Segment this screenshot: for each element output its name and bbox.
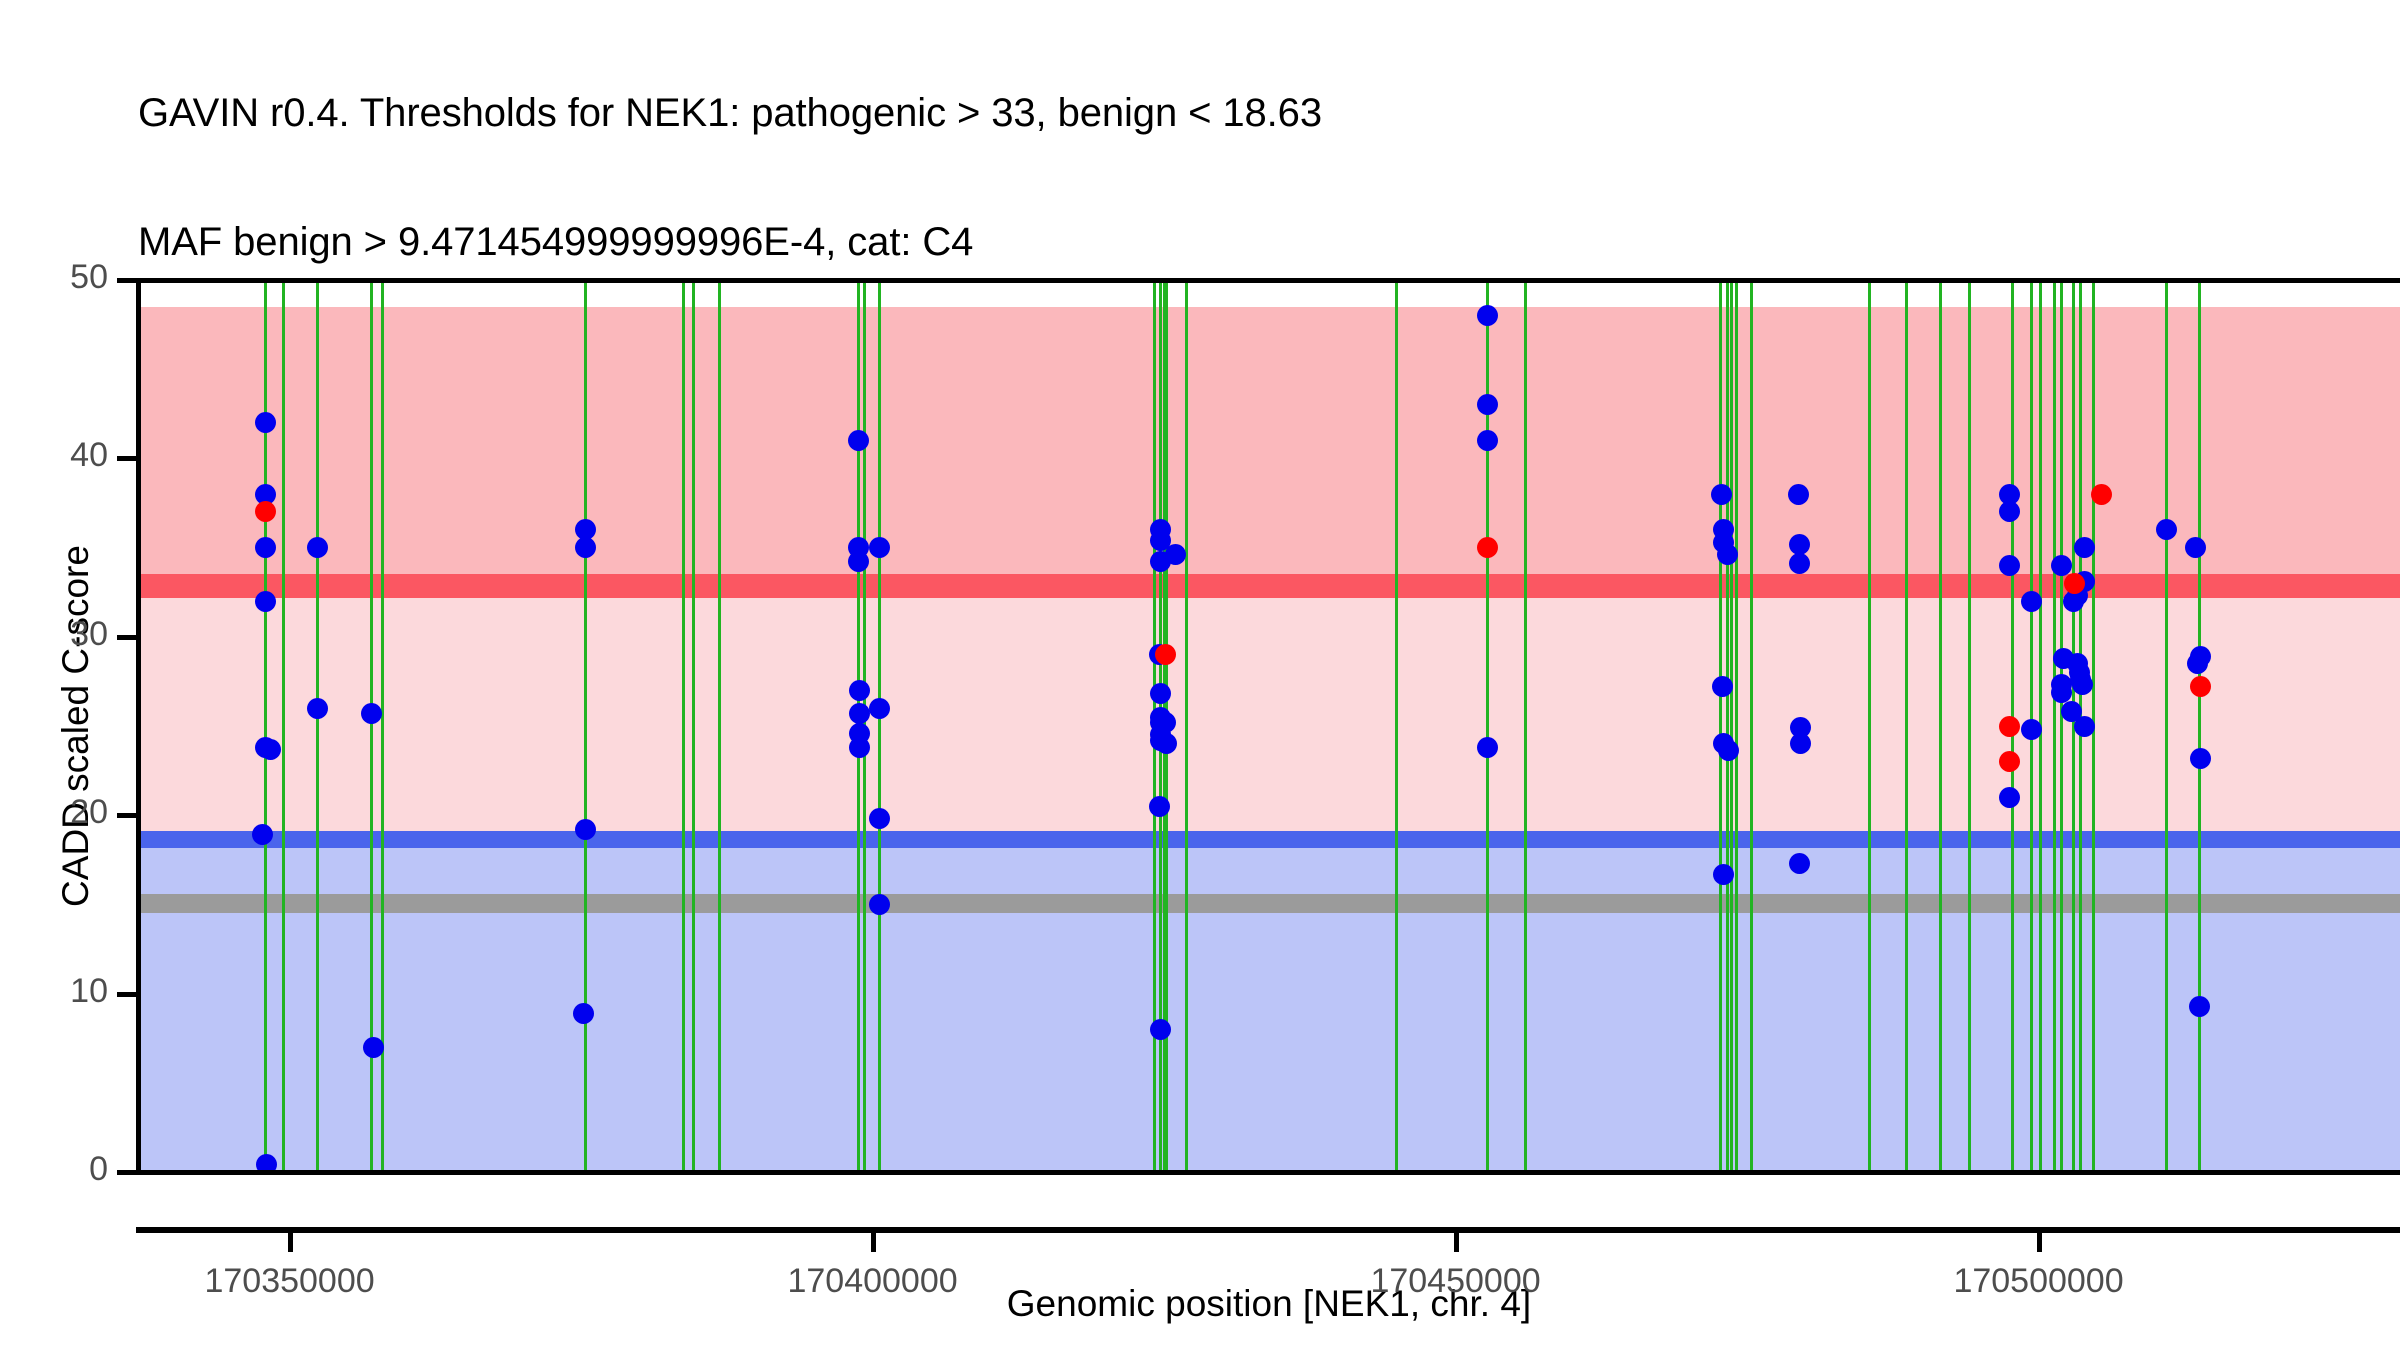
gnomad-variant-point [869,537,890,558]
exon-line [2053,280,2056,1172]
y-tick-label: 50 [0,258,108,297]
gnomad-variant-point [848,430,869,451]
gnomad-variant-point [1789,553,1810,574]
clinvar-pathogenic-point [255,501,276,522]
x-tick-label: 170500000 [1953,1262,2123,1301]
exon-line [2198,280,2201,1172]
plot-area [138,280,2400,1172]
exon-line [1750,280,1753,1172]
y-tick-label: 10 [0,972,108,1011]
x-axis-line [136,1227,2400,1233]
gnomad-variant-point [1717,544,1738,565]
gnomad-variant-point [1999,787,2020,808]
y-tick-label: 0 [0,1150,108,1189]
y-tick [117,456,136,461]
y-tick [117,1170,136,1175]
gnomad-variant-point [1149,796,1170,817]
gnomad-variant-point [2189,996,2210,1017]
title-line-2: MAF benign > 9.471454999999996E-4, cat: … [138,221,2238,264]
y-tick [117,992,136,997]
exon-line [1185,280,1188,1172]
exon-line [282,280,285,1172]
gnomad-variant-point [2021,719,2042,740]
gnomad-variant-point [361,703,382,724]
gnomad-variant-point [363,1037,384,1058]
exon-line [1905,280,1908,1172]
exon-line [2060,280,2063,1172]
exon-line [1395,280,1398,1172]
title-line-1: GAVIN r0.4. Thresholds for NEK1: pathoge… [138,92,2238,135]
x-tick [1454,1233,1459,1252]
clinvar-pathogenic-point [1999,716,2020,737]
y-axis-line [136,278,141,1174]
gnomad-variant-point [869,894,890,915]
gnomad-variant-point [307,537,328,558]
exon-line [1719,280,1722,1172]
x-tick-label: 170350000 [204,1262,374,1301]
exon-line [2165,280,2168,1172]
gnomad-variant-point [849,737,870,758]
gnomad-variant-point [2190,646,2211,667]
exon-line [584,280,587,1172]
exon-line [316,280,319,1172]
x-tick [288,1233,293,1252]
exon-line [1868,280,1871,1172]
gnomad-variant-point [849,680,870,701]
gnomad-variant-point [307,698,328,719]
gnomad-variant-point [573,1003,594,1024]
gnomad-variant-point [869,698,890,719]
exon-line [692,280,695,1172]
gnomad-variant-point [1477,430,1498,451]
gnomad-variant-point [2190,748,2211,769]
y-tick-label: 30 [0,615,108,654]
plot-top-border [136,278,2400,283]
clinvar-pathogenic-point [2064,573,2085,594]
exon-line [1939,280,1942,1172]
gnomad-variant-point [1713,864,1734,885]
exon-line [718,280,721,1172]
exon-line [1735,280,1738,1172]
clinvar-pathogenic-point [2091,484,2112,505]
exon-line [682,280,685,1172]
x-tick-label: 170450000 [1370,1262,1540,1301]
gnomad-variant-point [255,537,276,558]
gnomad-variant-point [255,591,276,612]
exon-line [1524,280,1527,1172]
x-tick-label: 170400000 [787,1262,957,1301]
clinvar-pathogenic-point [1155,644,1176,665]
y-tick-label: 40 [0,436,108,475]
gnomad-variant-point [1711,484,1732,505]
y-tick [117,813,136,818]
gnomad-variant-point [2074,537,2095,558]
clinvar-pathogenic-point [1999,751,2020,772]
gnomad-variant-point [255,412,276,433]
y-tick-label: 20 [0,793,108,832]
exon-line [1730,280,1733,1172]
exon-line [1968,280,1971,1172]
exon-line [878,280,881,1172]
y-tick [117,635,136,640]
clinvar-pathogenic-point [1477,537,1498,558]
exon-line [381,280,384,1172]
x-tick [871,1233,876,1252]
x-tick [2037,1233,2042,1252]
gnomad-variant-point [1150,1019,1171,1040]
gnomad-variant-point [1477,737,1498,758]
gnomad-variant-point [1999,555,2020,576]
gnomad-variant-point [1788,484,1809,505]
gnomad-variant-point [1477,394,1498,415]
gnomad-variant-point [1477,305,1498,326]
gnomad-variant-point [2021,591,2042,612]
gnomad-variant-point [1789,534,1810,555]
gnomad-variant-point [260,739,281,760]
gnomad-variant-point [2051,682,2072,703]
chart-root: GAVIN r0.4. Thresholds for NEK1: pathoge… [0,0,2400,1350]
y-tick [117,278,136,283]
gnomad-variant-point [2074,716,2095,737]
plot-bottom-border [136,1170,2400,1175]
gnomad-variant-point [1789,853,1810,874]
exon-line [1726,280,1729,1172]
